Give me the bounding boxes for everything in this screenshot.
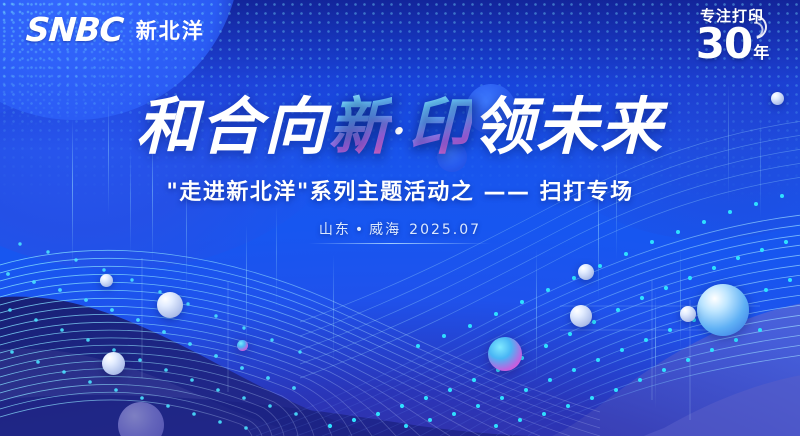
brand-chinese-name: 新北洋: [136, 15, 205, 45]
event-meta-wrap: 山东•威海2025.07: [0, 219, 800, 244]
meta-separator: •: [355, 222, 365, 238]
title-part-5: 领未来: [472, 90, 664, 163]
title-part-yin: 印: [408, 90, 472, 163]
anniversary-year-unit: 年: [753, 43, 768, 62]
anniversary-badge: 专注打印 30年: [680, 8, 784, 65]
event-date: 2025.07: [409, 222, 481, 238]
event-banner: SNBC 新北洋 专注打印 30年 和合向新·印领未来 "走进新北洋"系列主题活…: [0, 0, 800, 436]
title-separator-dot: ·: [392, 108, 408, 155]
page-subtitle: "走进新北洋"系列主题活动之 —— 扫打专场: [0, 174, 800, 206]
title-part-1: 和合向: [136, 90, 328, 163]
page-title: 和合向新·印领未来: [0, 96, 800, 158]
snbc-logo: SNBC: [25, 13, 124, 46]
brand-logo[interactable]: SNBC 新北洋: [26, 13, 205, 46]
title-part-xin: 新: [328, 90, 392, 163]
event-city: 威海: [369, 222, 401, 238]
event-province: 山东: [319, 222, 351, 238]
event-meta: 山东•威海2025.07: [309, 219, 491, 244]
